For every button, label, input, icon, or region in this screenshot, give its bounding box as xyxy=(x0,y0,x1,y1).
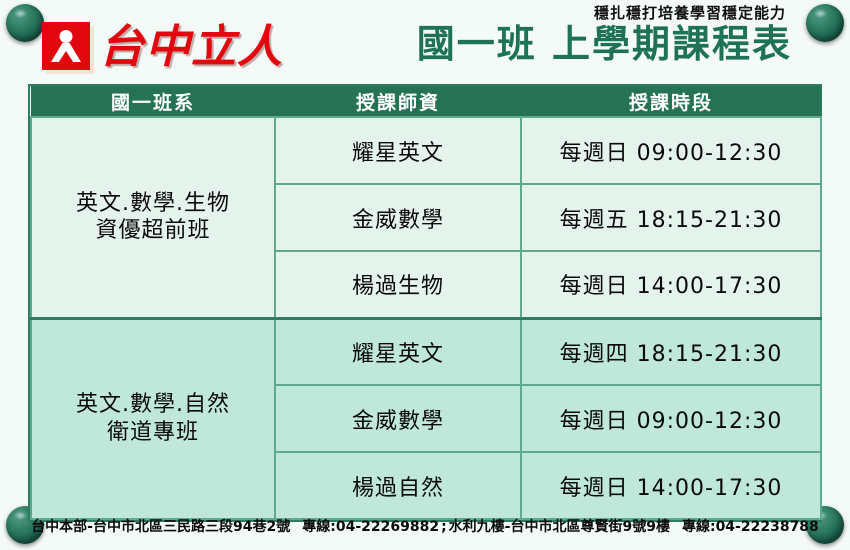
table-group-advanced: 英文.數學.生物 資優超前班 耀星英文 每週日 09:00-12:30 金威數學… xyxy=(31,117,821,318)
person-head-shape xyxy=(60,30,73,43)
timeslot-cell: 每週日 09:00-12:30 xyxy=(521,385,821,452)
class-name-line2: 資優超前班 xyxy=(95,218,210,243)
class-name-cell: 英文.數學.生物 資優超前班 xyxy=(31,117,275,318)
footer-branch2-address: 水利九樓-台中市北區尊賢街9號9樓 xyxy=(449,519,670,535)
brand-logo: 台中立人 xyxy=(42,22,283,70)
schedule-table: 國一班系 授課師資 授課時段 英文.數學.生物 資優超前班 耀星英文 每週日 0… xyxy=(30,86,822,520)
column-header-timeslot: 授課時段 xyxy=(521,86,821,117)
class-name-line2: 衛道專班 xyxy=(107,420,199,445)
footer-branch1-address: 台中本部-台中市北區三民路三段94巷2號 xyxy=(31,519,290,535)
teacher-cell: 楊過生物 xyxy=(275,251,521,318)
timeslot-cell: 每週日 14:00-17:30 xyxy=(521,251,821,318)
teacher-cell: 金威數學 xyxy=(275,184,521,251)
brand-name: 台中立人 xyxy=(99,24,283,69)
footer-separator: ; xyxy=(439,519,449,535)
title-block: 穩扎穩打培養學習穩定能力 國一班 上學期課程表 xyxy=(417,4,792,67)
teacher-cell: 金威數學 xyxy=(275,385,521,452)
schedule-table-container: 國一班系 授課師資 授課時段 英文.數學.生物 資優超前班 耀星英文 每週日 0… xyxy=(28,84,822,522)
table-header-row: 國一班系 授課師資 授課時段 xyxy=(31,86,821,117)
class-name-line1: 英文.數學.自然 xyxy=(76,392,230,417)
footer-branch1-phone: 專線:04-22269882 xyxy=(302,519,439,535)
standing-person-icon xyxy=(42,22,90,70)
teacher-cell: 楊過自然 xyxy=(275,452,521,519)
table-group-weidao: 英文.數學.自然 衛道專班 耀星英文 每週四 18:15-21:30 金威數學 … xyxy=(31,318,821,519)
page-header: 台中立人 穩扎穩打培養學習穩定能力 國一班 上學期課程表 xyxy=(0,0,850,84)
column-header-class: 國一班系 xyxy=(31,86,275,117)
table-row: 英文.數學.自然 衛道專班 耀星英文 每週四 18:15-21:30 xyxy=(31,318,821,385)
timeslot-cell: 每週日 09:00-12:30 xyxy=(521,117,821,184)
table-row: 英文.數學.生物 資優超前班 耀星英文 每週日 09:00-12:30 xyxy=(31,117,821,184)
teacher-cell: 耀星英文 xyxy=(275,117,521,184)
class-name-line1: 英文.數學.生物 xyxy=(76,191,230,216)
footer-branch2-phone: 專線:04-22238788 xyxy=(682,519,819,535)
person-body-shape xyxy=(51,43,81,62)
timeslot-cell: 每週日 14:00-17:30 xyxy=(521,452,821,519)
teacher-cell: 耀星英文 xyxy=(275,318,521,385)
page-subtitle: 穩扎穩打培養學習穩定能力 xyxy=(417,4,792,22)
timeslot-cell: 每週四 18:15-21:30 xyxy=(521,318,821,385)
page-title: 國一班 上學期課程表 xyxy=(417,23,792,67)
footer-contact-bar: 台中本部-台中市北區三民路三段94巷2號專線:04-22269882;水利九樓-… xyxy=(0,516,850,536)
timeslot-cell: 每週五 18:15-21:30 xyxy=(521,184,821,251)
column-header-teacher: 授課師資 xyxy=(275,86,521,117)
class-name-cell: 英文.數學.自然 衛道專班 xyxy=(31,318,275,519)
